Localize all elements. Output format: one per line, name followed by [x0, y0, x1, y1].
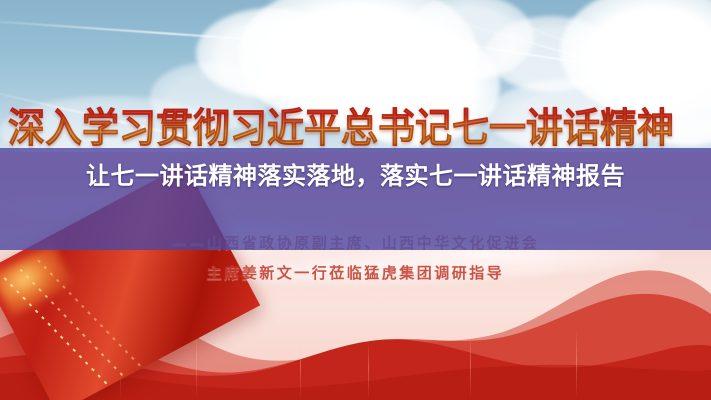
overlay-title: 让七一讲话精神落实落地，落实七一讲话精神报告 [0, 160, 711, 194]
poster-image: 深入学习贯彻习近平总书记七一讲话精神 [0, 0, 711, 400]
banner-headline-text: 深入学习贯彻习近平总书记七一讲话精神 [8, 95, 674, 153]
fabric-crease [368, 342, 369, 400]
banner-headline: 深入学习贯彻习近平总书记七一讲话精神 [0, 94, 711, 154]
fabric-crease [576, 328, 577, 400]
fabric-crease [300, 338, 301, 400]
ribbon-stitching [20, 269, 126, 378]
poster-subtitle-line2: 主席姜新文一行莅临猛虎集团调研指导 [0, 262, 711, 283]
fabric-crease [470, 334, 471, 400]
